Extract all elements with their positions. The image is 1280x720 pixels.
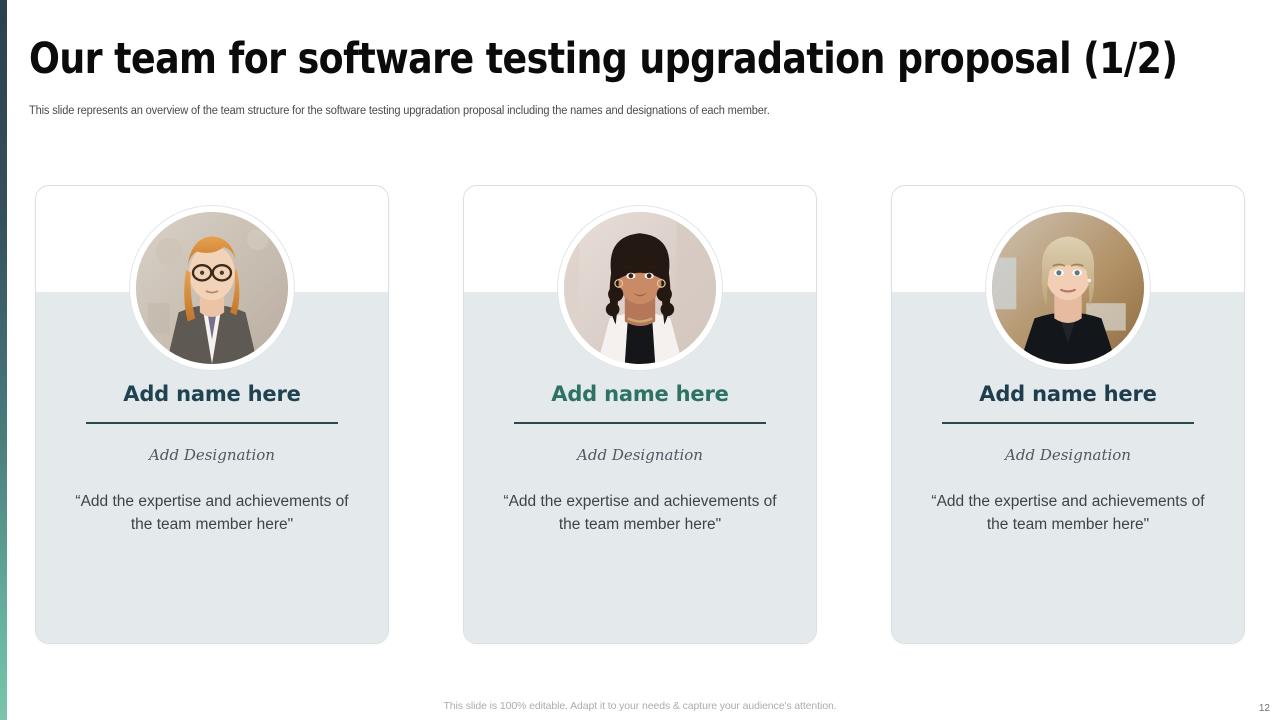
name-divider [514, 422, 766, 424]
name-divider [86, 422, 338, 424]
member-quote: “Add the expertise and achievements of t… [482, 490, 798, 537]
member-name: Add name here [910, 382, 1226, 406]
team-member-card[interactable]: Add name here Add Designation “Add the e… [463, 185, 817, 644]
member-name: Add name here [54, 382, 370, 406]
card-body: Add name here Add Designation “Add the e… [892, 382, 1244, 536]
name-divider [942, 422, 1194, 424]
avatar [986, 206, 1150, 370]
team-member-card[interactable]: Add name here Add Designation “Add the e… [35, 185, 389, 644]
avatar [558, 206, 722, 370]
avatar [130, 206, 294, 370]
member-designation: Add Designation [54, 446, 370, 464]
avatar-image-2 [564, 212, 716, 364]
member-designation: Add Designation [482, 446, 798, 464]
team-card-list: Add name here Add Designation “Add the e… [35, 185, 1245, 644]
card-body: Add name here Add Designation “Add the e… [464, 382, 816, 536]
left-accent-bar [0, 0, 7, 720]
member-name: Add name here [482, 382, 798, 406]
page-subtitle: This slide represents an overview of the… [29, 105, 770, 117]
member-quote: “Add the expertise and achievements of t… [910, 490, 1226, 537]
member-designation: Add Designation [910, 446, 1226, 464]
footer-note: This slide is 100% editable. Adapt it to… [0, 700, 1280, 712]
member-quote: “Add the expertise and achievements of t… [54, 490, 370, 537]
card-body: Add name here Add Designation “Add the e… [36, 382, 388, 536]
page-number: 12 [1259, 703, 1270, 714]
slide-root: Our team for software testing upgradatio… [0, 0, 1280, 720]
avatar-image-1 [136, 212, 288, 364]
team-member-card[interactable]: Add name here Add Designation “Add the e… [891, 185, 1245, 644]
page-title: Our team for software testing upgradatio… [29, 34, 1177, 84]
avatar-image-3 [992, 212, 1144, 364]
